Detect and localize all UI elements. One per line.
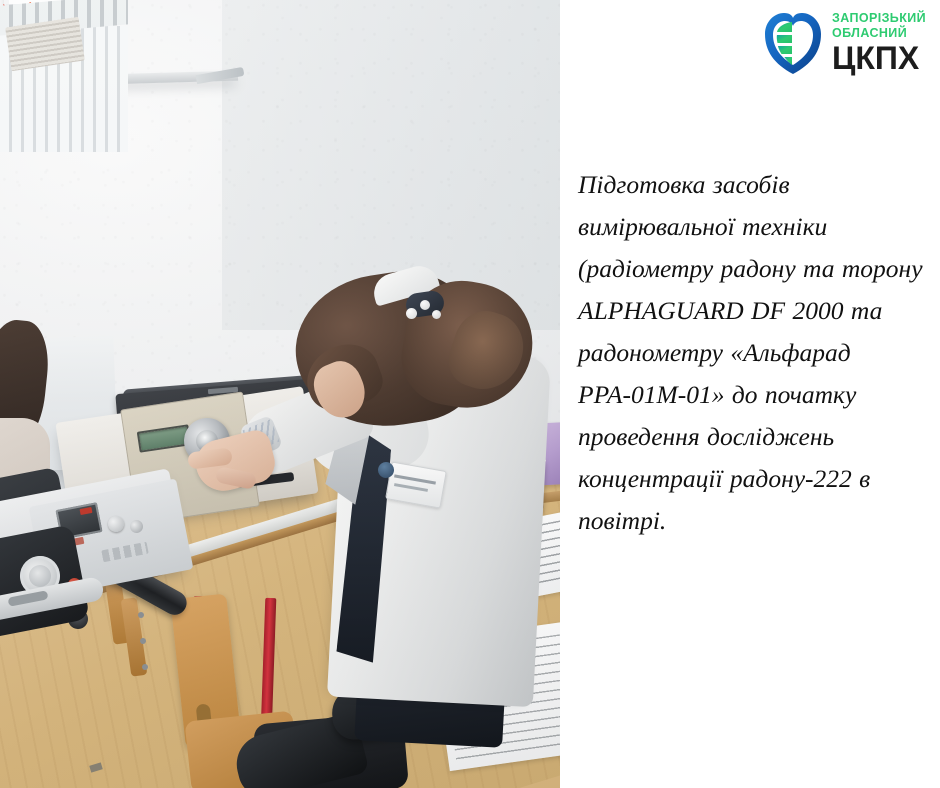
chair-screw — [140, 638, 146, 644]
logo-wordmark: ЗАПОРІЗЬКИЙ ОБЛАСНИЙ ЦКПХ — [832, 12, 926, 74]
chair-screw — [138, 612, 144, 618]
caption-text: Підготовка засобів вимірювальної техніки… — [578, 164, 926, 542]
laboratory-photo — [0, 0, 560, 788]
person-hair-bead — [420, 300, 430, 310]
alpharad-port-center — [29, 565, 51, 587]
person-hair-bead — [432, 310, 441, 319]
shield-leaf-logo-icon — [762, 10, 824, 76]
text-panel: ЗАПОРІЗЬКИЙ ОБЛАСНИЙ ЦКПХ Підготовка зас… — [560, 0, 940, 788]
logo-acronym: ЦКПХ — [832, 42, 926, 74]
logo-line-1: ЗАПОРІЗЬКИЙ — [832, 12, 926, 25]
person-hair-bead — [406, 308, 417, 319]
organization-logo[interactable]: ЗАПОРІЗЬКИЙ ОБЛАСНИЙ ЦКПХ — [762, 10, 926, 76]
logo-line-2: ОБЛАСНИЙ — [832, 27, 926, 40]
chair-screw — [142, 664, 148, 670]
info-card: ЗАПОРІЗЬКИЙ ОБЛАСНИЙ ЦКПХ Підготовка зас… — [0, 0, 940, 788]
